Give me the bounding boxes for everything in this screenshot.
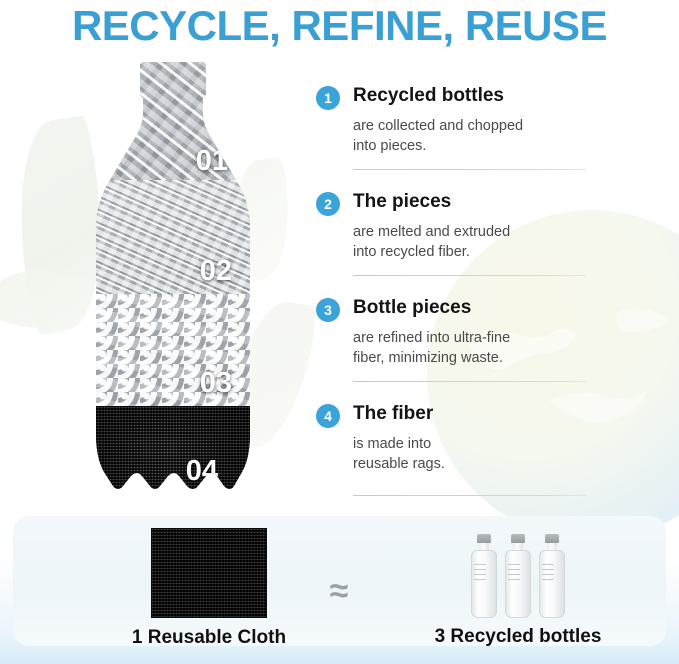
- step-title-3: Bottle pieces: [353, 296, 471, 320]
- bottle-body: [539, 550, 565, 618]
- step-title-1: Recycled bottles: [353, 84, 504, 108]
- bottle-ribs: [474, 564, 486, 580]
- bottle-segment-02: 02: [74, 180, 254, 294]
- step-divider-4: [353, 495, 586, 496]
- bottle-diagram: 01 02 03 04: [74, 62, 254, 510]
- step-body-3: are refined into ultra-fine fiber, minim…: [353, 328, 606, 368]
- recycled-bottle-icon: [538, 534, 566, 618]
- bottle-shape: 01 02 03 04: [74, 62, 254, 510]
- step-body-4: is made into reusable rags.: [353, 434, 606, 474]
- step-badge-3: 3: [316, 298, 340, 322]
- step-body-1: are collected and chopped into pieces.: [353, 116, 606, 156]
- step-badge-2: 2: [316, 192, 340, 216]
- segment-number-04: 04: [186, 455, 218, 488]
- bottle-segment-04: 04: [74, 406, 254, 510]
- bottle-row: [393, 526, 643, 618]
- cloth-label: 1 Reusable Cloth: [99, 627, 319, 649]
- bottle-body: [505, 550, 531, 618]
- comparison-panel: 1 Reusable Cloth ≈: [13, 516, 666, 646]
- bottles-group: 3 Recycled bottles: [393, 526, 643, 648]
- step-item-4: 4 The fiber is made into reusable rags.: [316, 402, 606, 496]
- segment-number-03: 03: [200, 367, 232, 400]
- step-divider-2: [353, 275, 586, 276]
- page-title: RECYCLE, REFINE, REUSE: [0, 2, 679, 50]
- cloth-group: 1 Reusable Cloth: [99, 528, 319, 649]
- step-item-3: 3 Bottle pieces are refined into ultra-f…: [316, 296, 606, 382]
- bottle-cap: [477, 534, 491, 543]
- bottle-ribs: [508, 564, 520, 580]
- step-badge-4: 4: [316, 404, 340, 428]
- bottles-label: 3 Recycled bottles: [393, 626, 643, 648]
- step-divider-3: [353, 381, 586, 382]
- bottle-cap: [511, 534, 525, 543]
- step-header-4: 4 The fiber: [316, 402, 606, 428]
- bottle-body: [471, 550, 497, 618]
- bottle-segment-03: 03: [74, 294, 254, 406]
- step-title-4: The fiber: [353, 402, 433, 426]
- approximately-equal-icon: ≈: [309, 574, 369, 608]
- step-header-1: 1 Recycled bottles: [316, 84, 606, 110]
- infographic-canvas: RECYCLE, REFINE, REUSE 01 02 03 04 1 Rec…: [0, 0, 679, 664]
- bottle-ribs: [542, 564, 554, 580]
- step-body-2: are melted and extruded into recycled fi…: [353, 222, 606, 262]
- step-header-2: 2 The pieces: [316, 190, 606, 216]
- step-item-1: 1 Recycled bottles are collected and cho…: [316, 84, 606, 170]
- step-item-2: 2 The pieces are melted and extruded int…: [316, 190, 606, 276]
- steps-list: 1 Recycled bottles are collected and cho…: [316, 84, 606, 496]
- recycled-bottle-icon: [470, 534, 498, 618]
- step-divider-1: [353, 169, 586, 170]
- bottle-segment-01: 01: [74, 62, 254, 180]
- step-title-2: The pieces: [353, 190, 451, 214]
- segment-number-01: 01: [196, 145, 228, 178]
- cloth-swatch-image: [151, 528, 267, 618]
- bottle-cap: [545, 534, 559, 543]
- step-badge-1: 1: [316, 86, 340, 110]
- step-header-3: 3 Bottle pieces: [316, 296, 606, 322]
- segment-number-02: 02: [200, 255, 232, 288]
- recycled-bottle-icon: [504, 534, 532, 618]
